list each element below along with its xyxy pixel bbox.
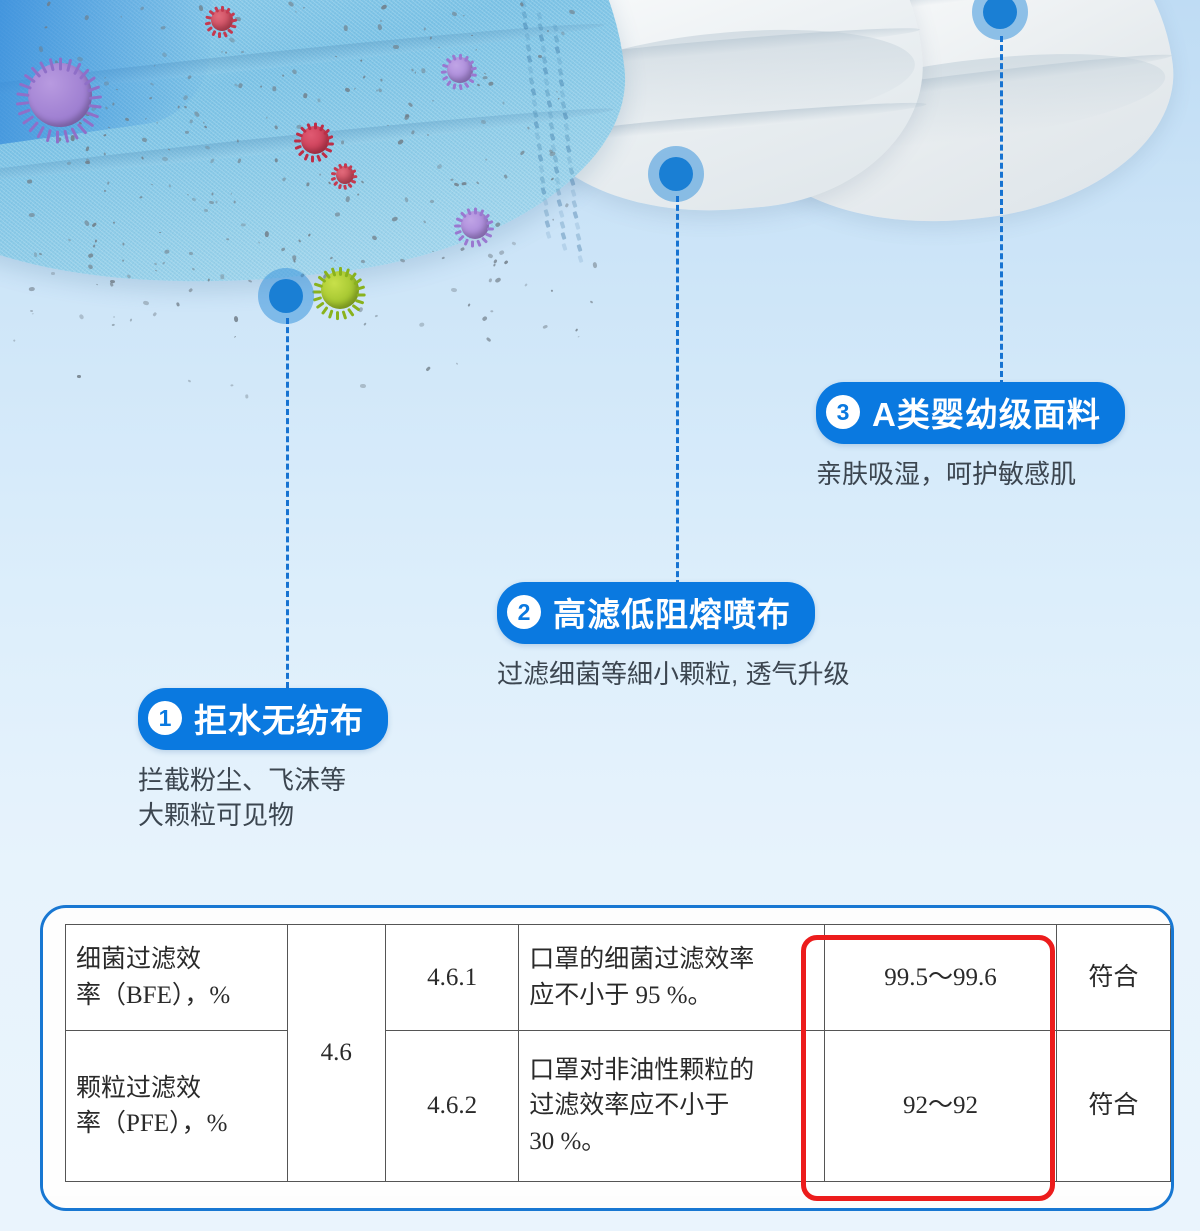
cell-result: 符合: [1056, 925, 1170, 1031]
cell-item-name: 细菌过滤效 率（BFE），%: [66, 925, 288, 1031]
cell-clause: 4.6: [287, 925, 385, 1182]
callout-1-title: 拒水无纺布: [194, 694, 364, 742]
germ-icon: [447, 57, 473, 83]
leader-line-1: [286, 318, 289, 688]
callout-marker-2[interactable]: [648, 146, 704, 202]
callout-3-pill[interactable]: 3 A类婴幼级面料: [816, 382, 1125, 444]
spec-table: 细菌过滤效 率（BFE），% 4.6 4.6.1 口罩的细菌过滤效率 应不小于 …: [65, 924, 1171, 1182]
callout-1: 1 拒水无纺布 拦截粉尘、飞沫等 大颗粒可见物: [138, 688, 388, 833]
leader-line-3: [1000, 36, 1003, 386]
callout-2-subtitle: 过滤细菌等細小颗粒, 透气升级: [497, 657, 849, 692]
cell-subclause: 4.6.1: [385, 925, 518, 1031]
leader-line-2: [676, 196, 679, 586]
callout-3-subtitle: 亲肤吸湿，呵护敏感肌: [816, 457, 1125, 492]
cell-subclause: 4.6.2: [385, 1031, 518, 1182]
germ-icon: [301, 126, 329, 154]
callout-2-title: 高滤低阻熔喷布: [553, 588, 791, 636]
cell-item-name: 颗粒过滤效 率（PFE），%: [66, 1031, 288, 1182]
cell-requirement: 口罩的细菌过滤效率 应不小于 95 %。: [519, 925, 825, 1031]
callout-1-pill[interactable]: 1 拒水无纺布: [138, 688, 388, 750]
cell-requirement: 口罩对非油性颗粒的 过滤效率应不小于 30 %。: [519, 1031, 825, 1182]
germ-icon: [28, 63, 92, 127]
callout-marker-1[interactable]: [258, 268, 314, 324]
germ-icon: [461, 211, 489, 239]
cell-measured-value: 92～92: [825, 1031, 1057, 1182]
callout-3: 3 A类婴幼级面料 亲肤吸湿，呵护敏感肌: [816, 382, 1125, 492]
callout-3-title: A类婴幼级面料: [872, 388, 1101, 436]
callout-1-number: 1: [148, 701, 182, 735]
germ-icon: [321, 271, 359, 309]
cell-measured-value: 99.5～99.6: [825, 925, 1057, 1031]
table-row: 细菌过滤效 率（BFE），% 4.6 4.6.1 口罩的细菌过滤效率 应不小于 …: [66, 925, 1171, 1031]
marker-dot: [659, 157, 693, 191]
marker-dot: [269, 279, 303, 313]
callout-2: 2 高滤低阻熔喷布 过滤细菌等細小颗粒, 透气升级: [497, 582, 849, 692]
mask-layer-outer-blue: [0, 0, 643, 317]
germ-icon: [211, 9, 233, 31]
callout-2-pill[interactable]: 2 高滤低阻熔喷布: [497, 582, 815, 644]
callout-2-number: 2: [507, 595, 541, 629]
cell-result: 符合: [1056, 1031, 1170, 1182]
callout-1-subtitle: 拦截粉尘、飞沫等 大颗粒可见物: [138, 763, 388, 833]
germ-icon: [336, 166, 354, 184]
mask-illustration: [0, 0, 1200, 420]
test-report-card: 细菌过滤效 率（BFE），% 4.6 4.6.1 口罩的细菌过滤效率 应不小于 …: [40, 905, 1174, 1211]
marker-dot: [983, 0, 1017, 29]
callout-3-number: 3: [826, 395, 860, 429]
table-row: 颗粒过滤效 率（PFE），% 4.6.2 口罩对非油性颗粒的 过滤效率应不小于 …: [66, 1031, 1171, 1182]
